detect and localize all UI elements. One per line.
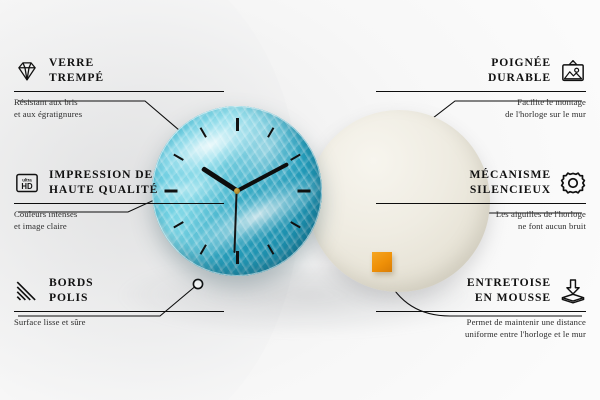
feature-entretoise-en-mousse: ENTRETOISE EN MOUSSE Permet de maintenir… <box>376 276 586 340</box>
feature-rule <box>376 203 586 204</box>
feature-mecanisme-silencieux: MÉCANISME SILENCIEUX Les aiguilles de l'… <box>376 168 586 232</box>
feature-desc-line2: de l'horloge sur le mur <box>376 108 586 120</box>
feature-desc-line1: Résistant aux bris <box>14 96 224 108</box>
feature-title-line2: HAUTE QUALITÉ <box>49 183 158 198</box>
foam-spacer-icon <box>560 278 586 304</box>
diamond-icon <box>14 58 40 84</box>
feature-title-line2: POLIS <box>49 291 93 306</box>
feature-desc-line1: Couleurs intenses <box>14 208 224 220</box>
gear-icon <box>560 170 586 196</box>
svg-text:HD: HD <box>21 182 33 191</box>
feature-poignee-durable: POIGNÉE DURABLE Facilite le montage de l… <box>376 56 586 120</box>
feature-title-line1: MÉCANISME <box>469 168 551 183</box>
feature-desc-line1: Permet de maintenir une distance <box>376 316 586 328</box>
feature-title-line2: DURABLE <box>488 71 551 86</box>
feature-rule <box>14 91 224 92</box>
feature-rule <box>376 91 586 92</box>
ultra-hd-icon: ultra HD <box>14 170 40 196</box>
feature-desc-line2: uniforme entre l'horloge et le mur <box>376 328 586 340</box>
feature-desc-line1: Surface lisse et sûre <box>14 316 224 328</box>
feature-desc-line1: Facilite le montage <box>376 96 586 108</box>
foam-spacer-sample <box>372 252 392 272</box>
feature-desc-line1: Les aiguilles de l'horloge <box>376 208 586 220</box>
feature-rule <box>14 311 224 312</box>
feature-title-line1: IMPRESSION DE <box>49 168 158 183</box>
feature-desc-line2: et aux égratignures <box>14 108 224 120</box>
feature-rule <box>376 311 586 312</box>
feature-desc-line2: ne font aucun bruit <box>376 220 586 232</box>
feature-desc-line2: et image claire <box>14 220 224 232</box>
feature-rule <box>14 203 224 204</box>
feature-title-line2: EN MOUSSE <box>467 291 551 306</box>
polished-edge-icon <box>14 278 40 304</box>
feature-title-line1: POIGNÉE <box>488 56 551 71</box>
feature-title-line1: ENTRETOISE <box>467 276 551 291</box>
feature-bords-polis: BORDS POLIS Surface lisse et sûre <box>14 276 224 328</box>
picture-hanger-icon <box>560 58 586 84</box>
feature-title-line1: BORDS <box>49 276 93 291</box>
feature-title-line2: SILENCIEUX <box>469 183 551 198</box>
feature-title-line2: TREMPÉ <box>49 71 104 86</box>
feature-impression-haute-qualite: ultra HD IMPRESSION DE HAUTE QUALITÉ Cou… <box>14 168 224 232</box>
feature-title-line1: VERRE <box>49 56 104 71</box>
infographic-stage: VERRE TREMPÉ Résistant aux bris et aux é… <box>0 0 600 400</box>
feature-verre-trempe: VERRE TREMPÉ Résistant aux bris et aux é… <box>14 56 224 120</box>
